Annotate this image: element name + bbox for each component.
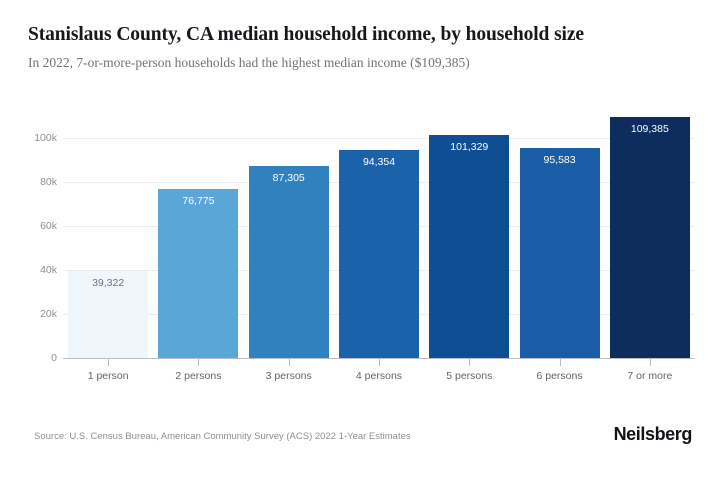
bar-value-label: 94,354 (339, 156, 419, 168)
x-axis-tick (469, 359, 470, 366)
x-axis-tick (379, 359, 380, 366)
y-axis-tick: 20k (0, 308, 57, 320)
source-note: Source: U.S. Census Bureau, American Com… (34, 431, 411, 442)
y-axis-tick-label: 60k (11, 220, 57, 232)
bar-value-label: 95,583 (520, 154, 600, 166)
y-axis-tick: 0 (0, 352, 57, 364)
bar[interactable]: 76,775 (158, 189, 238, 358)
brand-logo: Neilsberg (614, 424, 692, 445)
footer-divider (28, 408, 692, 409)
y-axis-tick-label: 20k (11, 308, 57, 320)
y-axis-tick-label: 100k (11, 132, 57, 144)
bar[interactable]: 87,305 (249, 166, 329, 358)
x-axis-tick-label: 3 persons (244, 370, 334, 382)
y-axis-tick-label: 40k (11, 264, 57, 276)
plot-area: 020k40k60k80k100k 39,32276,77587,30594,3… (0, 0, 720, 400)
y-axis-tick: 40k (0, 264, 57, 276)
x-axis-tick (560, 359, 561, 366)
x-axis-tick-label: 6 persons (514, 370, 604, 382)
y-axis-tick: 80k (0, 176, 57, 188)
bar[interactable]: 95,583 (520, 148, 600, 358)
y-axis-tick: 60k (0, 220, 57, 232)
bar-value-label: 87,305 (249, 172, 329, 184)
x-axis-tick-label: 2 persons (153, 370, 243, 382)
bar-value-label: 101,329 (429, 141, 509, 153)
x-axis-tick-label: 5 persons (424, 370, 514, 382)
y-axis-tick: 100k (0, 132, 57, 144)
x-axis-tick-label: 1 person (63, 370, 153, 382)
x-axis-tick (289, 359, 290, 366)
bar[interactable]: 94,354 (339, 150, 419, 358)
x-axis-tick-label: 4 persons (334, 370, 424, 382)
x-axis-tick (198, 359, 199, 366)
x-axis-tick (108, 359, 109, 366)
gridline (63, 138, 695, 139)
y-axis-tick-label: 80k (11, 176, 57, 188)
bar[interactable]: 109,385 (610, 117, 690, 358)
bar-value-label: 39,322 (68, 277, 148, 289)
y-axis-tick-label: 0 (11, 352, 57, 364)
chart-card: Stanislaus County, CA median household i… (0, 0, 720, 480)
bar[interactable]: 101,329 (429, 135, 509, 358)
x-axis-tick (650, 359, 651, 366)
x-axis-tick-label: 7 or more (605, 370, 695, 382)
bar-value-label: 109,385 (610, 123, 690, 135)
bar-value-label: 76,775 (158, 195, 238, 207)
bar[interactable]: 39,322 (68, 271, 148, 358)
